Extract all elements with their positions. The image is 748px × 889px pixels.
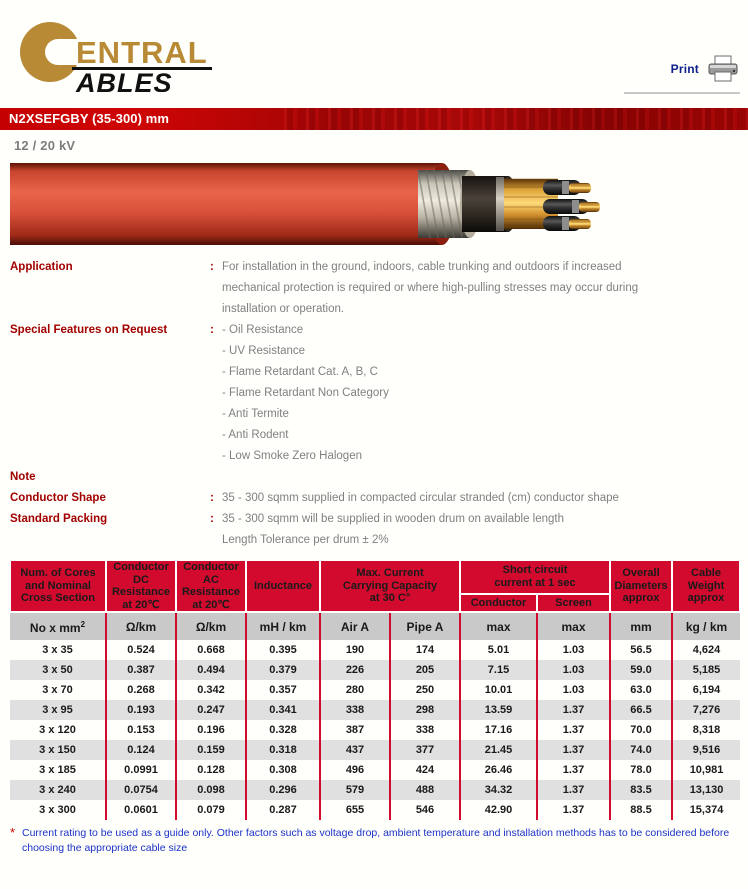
spec-label: Special Features on Request: [0, 320, 210, 341]
spec-value: 35 - 300 sqmm will be supplied in wooden…: [222, 509, 564, 530]
feature-item: - UV Resistance: [0, 341, 748, 362]
spec-value: installation or operation.: [222, 299, 344, 320]
col-header-ac-resistance: Conductor AC Resistance at 20℃: [176, 561, 246, 612]
cell-air: 338: [320, 700, 390, 720]
cell-diameter: 66.5: [610, 700, 672, 720]
cell-pipe: 377: [390, 740, 460, 760]
voltage-rating: 12 / 20 kV: [0, 130, 748, 153]
cell-ac-resistance: 0.159: [176, 740, 246, 760]
cell-weight: 8,318: [672, 720, 740, 740]
cell-size: 3 x 185: [10, 760, 106, 780]
table-row: 3 x 350.5240.6680.3951901745.011.0356.54…: [10, 640, 740, 660]
spec-value: mechanical protection is required or whe…: [222, 278, 638, 299]
unit-dc-resistance: Ω/km: [106, 612, 176, 640]
spec-row-application: Application : For installation in the gr…: [0, 257, 748, 278]
cell-sc-conductor: 5.01: [460, 640, 537, 660]
table-row: 3 x 700.2680.3420.35728025010.011.0363.0…: [10, 680, 740, 700]
asterisk-icon: *: [10, 825, 15, 840]
cell-dc-resistance: 0.268: [106, 680, 176, 700]
cell-air: 579: [320, 780, 390, 800]
spec-label: Conductor Shape: [0, 488, 210, 509]
cell-dc-resistance: 0.387: [106, 660, 176, 680]
unit-sc-screen: max: [537, 612, 610, 640]
cell-inductance: 0.318: [246, 740, 320, 760]
cell-sc-screen: 1.03: [537, 660, 610, 680]
cell-air: 655: [320, 800, 390, 820]
col-header-short-circuit: Short circuit current at 1 sec: [460, 561, 610, 594]
cell-inductance: 0.328: [246, 720, 320, 740]
feature-item: - Anti Rodent: [0, 425, 748, 446]
cell-diameter: 56.5: [610, 640, 672, 660]
unit-inductance: mH / km: [246, 612, 320, 640]
table-header-row-1: Num. of Cores and Nominal Cross Section …: [10, 561, 740, 594]
cell-sc-screen: 1.37: [537, 740, 610, 760]
product-datasheet-page: ENTRAL ABLES Print N2XSEFGBY (35-300) mm…: [0, 0, 748, 889]
cell-pipe: 250: [390, 680, 460, 700]
unit-diameter: mm: [610, 612, 672, 640]
cell-sc-screen: 1.37: [537, 780, 610, 800]
cell-dc-resistance: 0.524: [106, 640, 176, 660]
cell-ac-resistance: 0.098: [176, 780, 246, 800]
cell-ac-resistance: 0.247: [176, 700, 246, 720]
feature-item: - Anti Termite: [0, 404, 748, 425]
print-button[interactable]: Print: [671, 55, 738, 82]
cell-diameter: 59.0: [610, 660, 672, 680]
cell-inductance: 0.308: [246, 760, 320, 780]
cell-dc-resistance: 0.0754: [106, 780, 176, 800]
cell-ac-resistance: 0.494: [176, 660, 246, 680]
cell-diameter: 83.5: [610, 780, 672, 800]
cell-dc-resistance: 0.153: [106, 720, 176, 740]
spec-colon: :: [210, 509, 222, 530]
footnote-line-1: Current rating to be used as a guide onl…: [22, 827, 642, 839]
specifications-list: Application : For installation in the gr…: [0, 257, 748, 551]
cell-pipe: 424: [390, 760, 460, 780]
col-subheader-screen: Screen: [537, 594, 610, 612]
table-row: 3 x 2400.07540.0980.29657948834.321.3783…: [10, 780, 740, 800]
table-row: 3 x 3000.06010.0790.28765554642.901.3788…: [10, 800, 740, 820]
unit-air: Air A: [320, 612, 390, 640]
spec-value: 35 - 300 sqmm supplied in compacted circ…: [222, 488, 619, 509]
unit-cores: No x mm2: [10, 612, 106, 640]
col-header-cable-weight: Cable Weight approx: [672, 561, 740, 612]
table-row: 3 x 1200.1530.1960.32838733817.161.3770.…: [10, 720, 740, 740]
cell-size: 3 x 70: [10, 680, 106, 700]
cell-dc-resistance: 0.0991: [106, 760, 176, 780]
cell-sc-conductor: 17.16: [460, 720, 537, 740]
table-body: 3 x 350.5240.6680.3951901745.011.0356.54…: [10, 640, 740, 820]
cell-sc-screen: 1.37: [537, 720, 610, 740]
spec-row-note: Note: [0, 467, 748, 488]
cell-sc-conductor: 34.32: [460, 780, 537, 800]
cell-sc-screen: 1.37: [537, 800, 610, 820]
cell-inductance: 0.296: [246, 780, 320, 800]
spec-value: - Flame Retardant Non Category: [222, 383, 389, 404]
spec-continuation: Length Tolerance per drum ± 2%: [0, 530, 748, 551]
cell-inductance: 0.341: [246, 700, 320, 720]
cell-air: 190: [320, 640, 390, 660]
cell-sc-conductor: 7.15: [460, 660, 537, 680]
spec-row-special-features: Special Features on Request : - Oil Resi…: [0, 320, 748, 341]
table-row: 3 x 500.3870.4940.3792262057.151.0359.05…: [10, 660, 740, 680]
spec-value: - UV Resistance: [222, 341, 305, 362]
spec-label: Application: [0, 257, 210, 278]
cell-sc-screen: 1.03: [537, 640, 610, 660]
brand-logo[interactable]: ENTRAL ABLES: [14, 22, 264, 92]
product-image: [0, 157, 748, 255]
cell-dc-resistance: 0.0601: [106, 800, 176, 820]
cell-ac-resistance: 0.342: [176, 680, 246, 700]
cell-ac-resistance: 0.128: [176, 760, 246, 780]
cell-size: 3 x 240: [10, 780, 106, 800]
spec-colon: :: [210, 257, 222, 278]
cell-weight: 5,185: [672, 660, 740, 680]
spec-value: - Flame Retardant Cat. A, B, C: [222, 362, 378, 383]
unit-weight: kg / km: [672, 612, 740, 640]
spec-value: - Anti Rodent: [222, 425, 288, 446]
spec-value: For installation in the ground, indoors,…: [222, 257, 622, 278]
cell-sc-screen: 1.03: [537, 680, 610, 700]
cell-sc-conductor: 13.59: [460, 700, 537, 720]
spec-row-conductor-shape: Conductor Shape : 35 - 300 sqmm supplied…: [0, 488, 748, 509]
cell-weight: 9,516: [672, 740, 740, 760]
cell-weight: 13,130: [672, 780, 740, 800]
cell-pipe: 205: [390, 660, 460, 680]
cell-ac-resistance: 0.668: [176, 640, 246, 660]
cell-diameter: 70.0: [610, 720, 672, 740]
cell-air: 437: [320, 740, 390, 760]
cell-weight: 6,194: [672, 680, 740, 700]
table-units-row: No x mm2 Ω/km Ω/km mH / km Air A Pipe A …: [10, 612, 740, 640]
cell-sc-conductor: 42.90: [460, 800, 537, 820]
cell-air: 280: [320, 680, 390, 700]
cell-diameter: 78.0: [610, 760, 672, 780]
cell-size: 3 x 50: [10, 660, 106, 680]
unit-sc-conductor: max: [460, 612, 537, 640]
spec-label: Note: [0, 467, 210, 488]
cell-dc-resistance: 0.193: [106, 700, 176, 720]
cell-air: 387: [320, 720, 390, 740]
cell-air: 496: [320, 760, 390, 780]
cell-inductance: 0.379: [246, 660, 320, 680]
cell-weight: 4,624: [672, 640, 740, 660]
spec-colon: :: [210, 320, 222, 341]
feature-item: - Flame Retardant Cat. A, B, C: [0, 362, 748, 383]
col-subheader-conductor: Conductor: [460, 594, 537, 612]
cell-diameter: 74.0: [610, 740, 672, 760]
footnote: * Current rating to be used as a guide o…: [10, 826, 738, 856]
cell-size: 3 x 150: [10, 740, 106, 760]
cell-pipe: 338: [390, 720, 460, 740]
cell-air: 226: [320, 660, 390, 680]
cell-size: 3 x 120: [10, 720, 106, 740]
spec-label: Standard Packing: [0, 509, 210, 530]
unit-ac-resistance: Ω/km: [176, 612, 246, 640]
cell-weight: 15,374: [672, 800, 740, 820]
printer-icon[interactable]: [708, 55, 738, 82]
cell-pipe: 174: [390, 640, 460, 660]
table-row: 3 x 1500.1240.1590.31843737721.451.3774.…: [10, 740, 740, 760]
specification-table-wrapper: Num. of Cores and Nominal Cross Section …: [9, 561, 739, 820]
spec-value: - Oil Resistance: [222, 320, 303, 341]
cell-sc-screen: 1.37: [537, 760, 610, 780]
col-header-overall-diameter: Overall Diameters approx: [610, 561, 672, 612]
spec-colon: :: [210, 488, 222, 509]
svg-text:ABLES: ABLES: [75, 68, 173, 92]
specification-table: Num. of Cores and Nominal Cross Section …: [9, 561, 741, 820]
cell-sc-conductor: 10.01: [460, 680, 537, 700]
col-header-cores: Num. of Cores and Nominal Cross Section: [10, 561, 106, 612]
header-divider: [624, 92, 740, 94]
cell-weight: 10,981: [672, 760, 740, 780]
table-row: 3 x 950.1930.2470.34133829813.591.3766.5…: [10, 700, 740, 720]
page-title: N2XSEFGBY (35-300) mm: [0, 108, 748, 130]
page-header: ENTRAL ABLES Print: [0, 0, 748, 108]
print-label[interactable]: Print: [671, 62, 699, 76]
cell-inductance: 0.357: [246, 680, 320, 700]
feature-item: - Flame Retardant Non Category: [0, 383, 748, 404]
cell-weight: 7,276: [672, 700, 740, 720]
spec-row-standard-packing: Standard Packing : 35 - 300 sqmm will be…: [0, 509, 748, 530]
cell-dc-resistance: 0.124: [106, 740, 176, 760]
cell-diameter: 63.0: [610, 680, 672, 700]
cell-size: 3 x 300: [10, 800, 106, 820]
spec-value: - Low Smoke Zero Halogen: [222, 446, 362, 467]
feature-item: - Low Smoke Zero Halogen: [0, 446, 748, 467]
spec-value: - Anti Termite: [222, 404, 289, 425]
spec-continuation: mechanical protection is required or whe…: [0, 278, 748, 299]
cell-inductance: 0.287: [246, 800, 320, 820]
svg-text:ENTRAL: ENTRAL: [76, 35, 208, 70]
table-row: 3 x 1850.09910.1280.30849642426.461.3778…: [10, 760, 740, 780]
col-header-inductance: Inductance: [246, 561, 320, 612]
cell-pipe: 488: [390, 780, 460, 800]
cell-sc-screen: 1.37: [537, 700, 610, 720]
product-title-banner: N2XSEFGBY (35-300) mm: [0, 108, 748, 130]
spec-continuation: installation or operation.: [0, 299, 748, 320]
cell-diameter: 88.5: [610, 800, 672, 820]
spec-value: Length Tolerance per drum ± 2%: [222, 530, 389, 551]
cell-ac-resistance: 0.079: [176, 800, 246, 820]
cell-size: 3 x 35: [10, 640, 106, 660]
cable-illustration: [10, 157, 600, 253]
unit-pipe: Pipe A: [390, 612, 460, 640]
cell-pipe: 298: [390, 700, 460, 720]
cell-size: 3 x 95: [10, 700, 106, 720]
cell-pipe: 546: [390, 800, 460, 820]
col-header-dc-resistance: Conductor DC Resistance at 20℃: [106, 561, 176, 612]
cell-inductance: 0.395: [246, 640, 320, 660]
cell-sc-conductor: 21.45: [460, 740, 537, 760]
cell-ac-resistance: 0.196: [176, 720, 246, 740]
cell-sc-conductor: 26.46: [460, 760, 537, 780]
col-header-max-current: Max. Current Carrying Capacity at 30 C°: [320, 561, 460, 612]
